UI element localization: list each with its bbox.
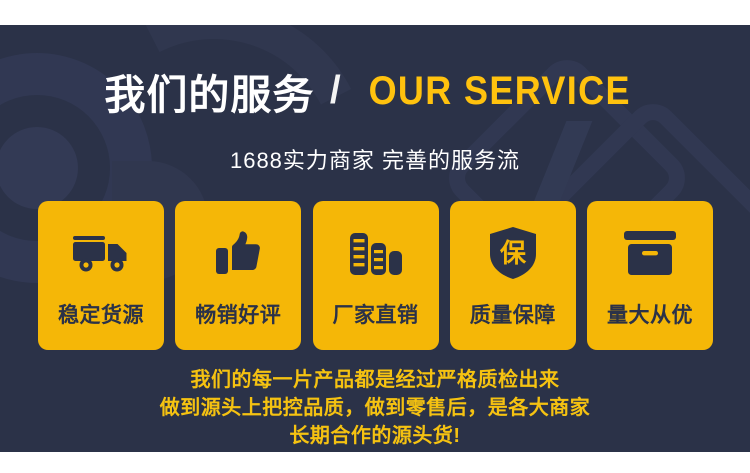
service-card-bulk-discount[interactable]: 量大从优	[587, 201, 713, 350]
service-card-factory-direct[interactable]: 厂家直销	[313, 201, 439, 350]
service-card-label: 畅销好评	[195, 299, 281, 329]
service-card-best-seller[interactable]: 畅销好评	[175, 201, 301, 350]
shield-icon: 保	[482, 223, 544, 283]
page-subtitle: 1688实力商家 完善的服务流	[0, 143, 750, 175]
svg-text:保: 保	[499, 238, 527, 268]
footer-line: 做到源头上把控品质，做到零售后，是各大商家	[0, 394, 750, 422]
title-separator: /	[330, 69, 341, 112]
service-card-list: 稳定货源 畅销好评	[38, 201, 713, 350]
service-card-label: 质量保障	[470, 299, 556, 329]
banner-dark-panel: 我们的服务 / OUR SERVICE 1688实力商家 完善的服务流	[0, 25, 750, 452]
footer-line: 我们的每一片产品都是经过严格质检出来	[0, 366, 750, 394]
service-card-label: 稳定货源	[58, 299, 144, 329]
page-title-chinese: 我们的服务	[104, 72, 314, 118]
page-title: 我们的服务 / OUR SERVICE	[0, 61, 750, 121]
thumbs-up-icon	[207, 223, 269, 283]
footer-line: 长期合作的源头货!	[0, 422, 750, 450]
service-card-label: 量大从优	[607, 299, 693, 329]
truck-icon	[70, 223, 132, 283]
box-icon	[619, 223, 681, 283]
service-banner: 我们的服务 / OUR SERVICE 1688实力商家 完善的服务流	[0, 0, 750, 473]
footer-description: 我们的每一片产品都是经过严格质检出来 做到源头上把控品质，做到零售后，是各大商家…	[0, 366, 750, 450]
page-title-english: OUR SERVICE	[369, 69, 631, 114]
factory-icon	[345, 223, 407, 283]
service-card-label: 厂家直销	[333, 299, 419, 329]
service-card-quality-guarantee[interactable]: 保 质量保障	[450, 201, 576, 350]
service-card-stable-supply[interactable]: 稳定货源	[38, 201, 164, 350]
